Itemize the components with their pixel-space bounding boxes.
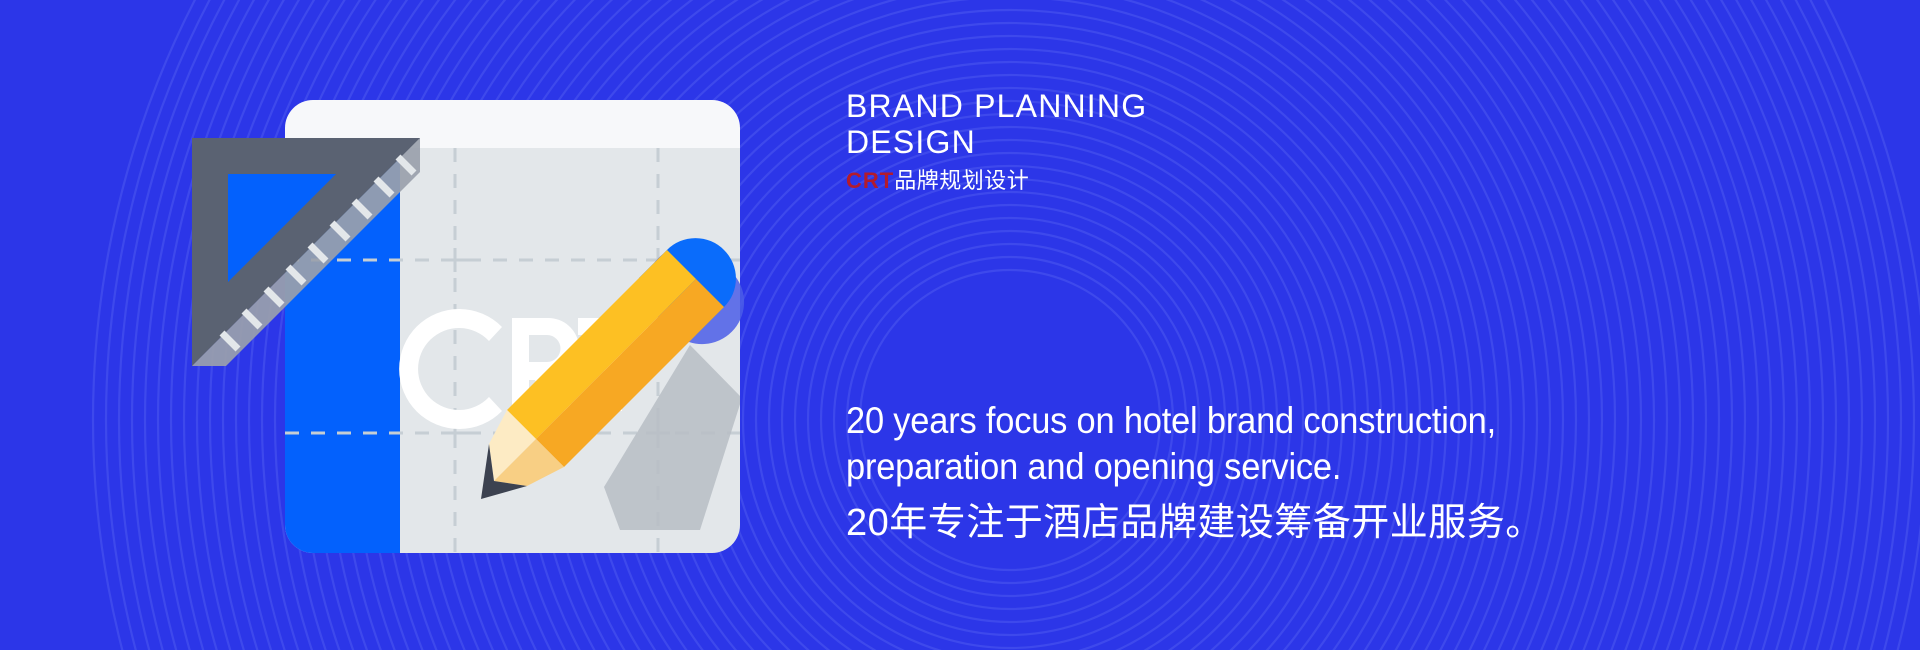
brand-banner: BRAND PLANNING DESIGN CRT品牌规划设计 20 years… xyxy=(0,0,1920,650)
subheadline-brand: CRT xyxy=(846,168,894,193)
tagline-block: 20 years focus on hotel brand constructi… xyxy=(846,398,1846,550)
tagline-english: 20 years focus on hotel brand constructi… xyxy=(846,398,1776,490)
copy-column: BRAND PLANNING DESIGN CRT品牌规划设计 20 years… xyxy=(846,0,1906,650)
tagline-chinese: 20年专注于酒店品牌建设筹备开业服务。 xyxy=(846,496,1846,550)
headline: BRAND PLANNING DESIGN xyxy=(846,88,1366,160)
subheadline: CRT品牌规划设计 xyxy=(846,168,1029,194)
hero-illustration xyxy=(0,0,900,650)
subheadline-chinese: 品牌规划设计 xyxy=(894,168,1029,193)
